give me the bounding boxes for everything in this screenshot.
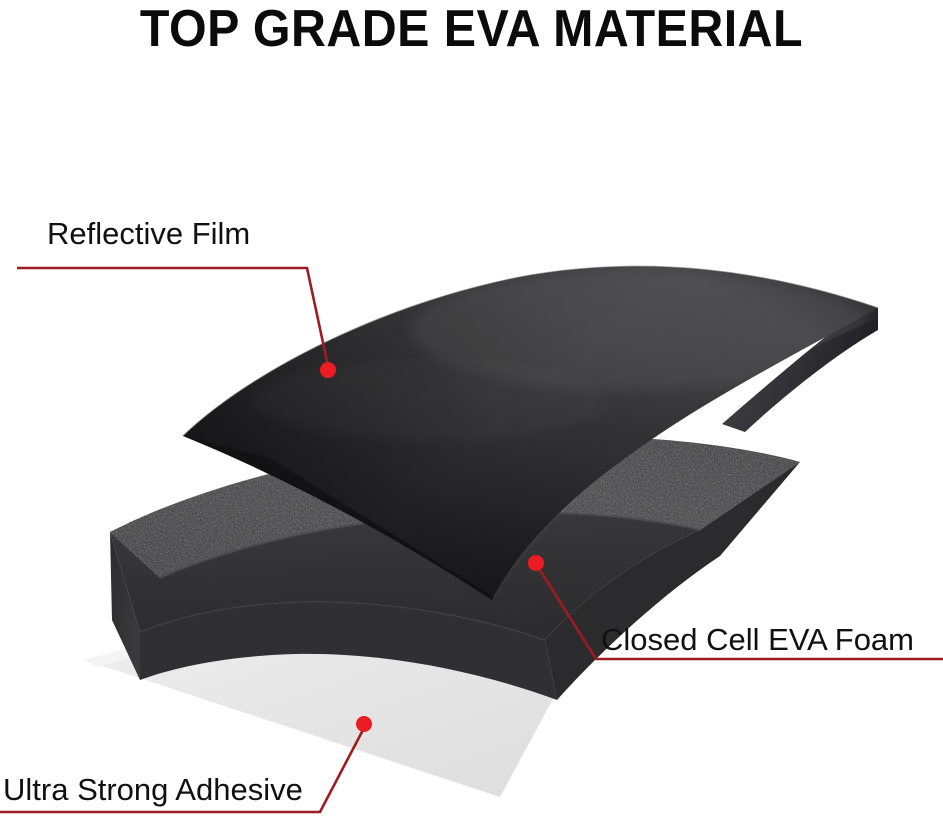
leader-dot-reflective-film [320,362,336,378]
eva-material-diagram [0,0,943,820]
callout-label-reflective-film: Reflective Film [47,216,250,252]
leader-line-reflective-film [17,268,328,366]
callout-label-closed-cell-eva-foam: Closed Cell EVA Foam [601,622,914,658]
infographic-canvas: TOP GRADE EVA MATERIAL [0,0,943,820]
leader-dot-ultra-strong-adhesive [356,716,372,732]
leader-dot-closed-cell-eva-foam [528,555,544,571]
callout-label-ultra-strong-adhesive: Ultra Strong Adhesive [3,772,303,808]
